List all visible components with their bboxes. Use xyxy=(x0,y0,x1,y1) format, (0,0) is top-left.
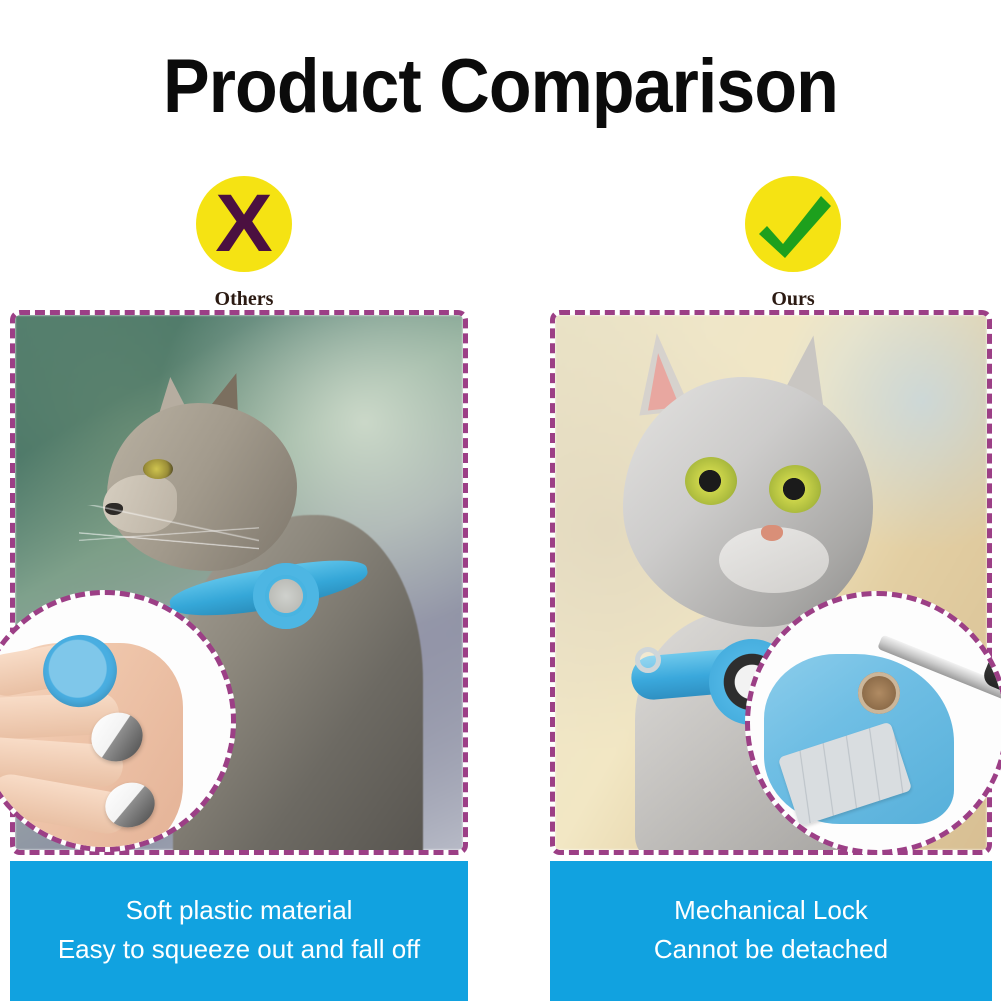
product-comparison-infographic: Product Comparison X Others Brown tabby … xyxy=(0,0,1001,1001)
collar-d-ring xyxy=(635,647,661,673)
caption-line-2: Easy to squeeze out and fall off xyxy=(10,930,468,969)
inset-ours: Screwdriver tightening the screw on the … xyxy=(745,591,1001,855)
page-title: Product Comparison xyxy=(40,44,961,130)
cat-eye-left xyxy=(685,457,737,505)
caption-banner-others: Soft plastic material Easy to squeeze ou… xyxy=(10,861,468,1001)
caption-line-1: Mechanical Lock xyxy=(550,891,992,930)
cat-head xyxy=(623,377,873,627)
column-label-others: Others xyxy=(144,288,344,311)
airtag-holder xyxy=(253,563,319,629)
caption-line-1: Soft plastic material xyxy=(10,891,468,930)
badge-others: X xyxy=(196,176,292,272)
cat-nose xyxy=(761,525,783,541)
x-mark-icon: X xyxy=(194,176,295,272)
check-mark-icon xyxy=(745,176,841,272)
caption-banner-ours: Mechanical Lock Cannot be detached xyxy=(550,861,992,1001)
column-label-ours: Ours xyxy=(693,288,893,311)
cat-eye-right xyxy=(769,465,821,513)
caption-line-2: Cannot be detached xyxy=(550,930,992,969)
cat-whiskers xyxy=(79,505,259,575)
badge-ours xyxy=(745,176,841,272)
lock-screw xyxy=(858,672,900,714)
cat-eye xyxy=(143,459,173,479)
